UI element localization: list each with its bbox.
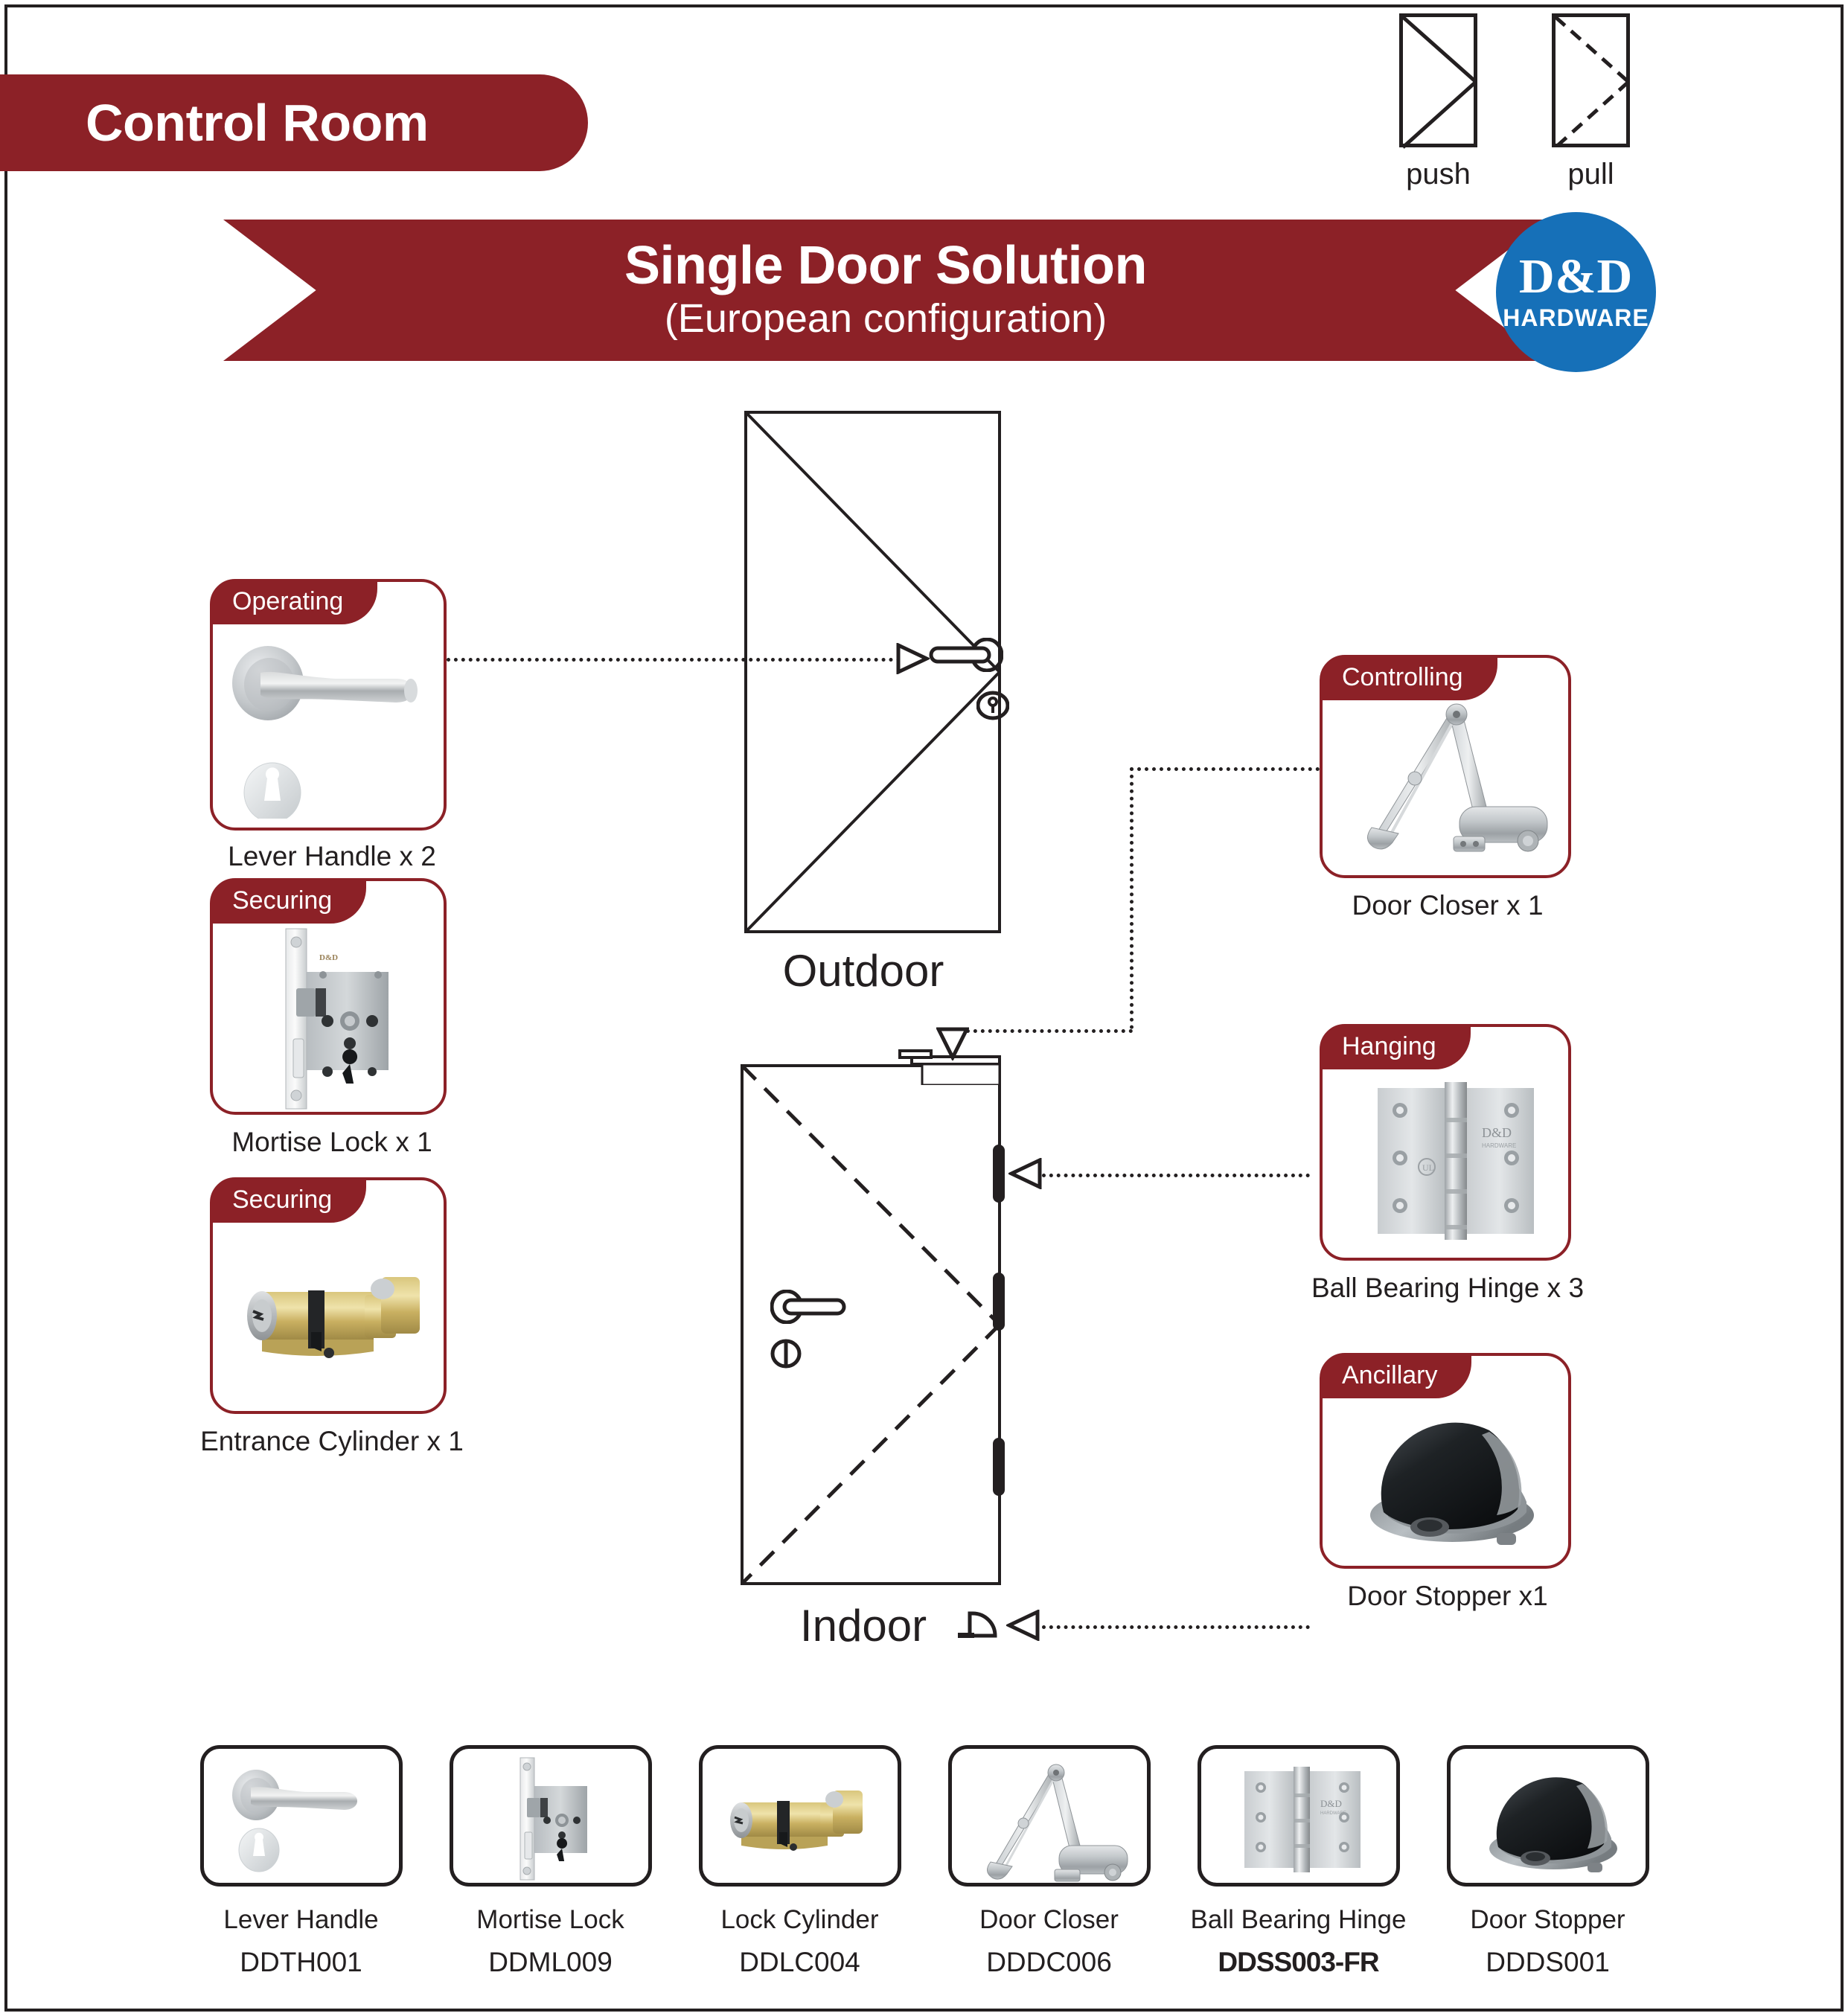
strip-thumb-door-closer — [948, 1745, 1151, 1887]
lever-handle-image — [226, 640, 442, 822]
ball-bearing-hinge-image: D&D HARDWARE UL — [1370, 1079, 1541, 1247]
pull-symbol-icon — [1552, 13, 1630, 147]
connector-lever-handle — [447, 658, 901, 662]
strip-name: Door Stopper — [1470, 1905, 1625, 1935]
arrowhead-left — [1008, 1158, 1043, 1193]
legend-label-push: push — [1406, 158, 1471, 191]
card-caption: Lever Handle x 2 — [176, 841, 488, 872]
hinge-mark — [993, 1145, 1005, 1203]
strip-name: Mortise Lock — [476, 1905, 624, 1935]
ribbon-title: Single Door Solution — [624, 239, 1147, 293]
indoor-thumbturn-symbol — [770, 1337, 805, 1372]
arrowhead-left — [1006, 1610, 1040, 1645]
strip-code: DDLC004 — [739, 1947, 860, 1978]
card-badge: Ancillary — [1321, 1354, 1471, 1398]
svg-text:HARDWARE: HARDWARE — [1482, 1142, 1516, 1149]
room-banner: Control Room — [0, 74, 588, 171]
connector-door-closer-bottom — [959, 1029, 1133, 1033]
legend-item-push: push — [1399, 13, 1477, 191]
strip-thumb-door-stopper — [1447, 1745, 1649, 1887]
connector-door-closer-top — [1130, 767, 1320, 771]
card-caption: Door Closer x 1 — [1291, 890, 1604, 921]
strip-item-door-closer[interactable]: Door Closer DDDC006 — [943, 1745, 1155, 1998]
callout-card-lever-handle[interactable]: Operating Lever H — [210, 579, 447, 831]
svg-text:D&D: D&D — [1320, 1798, 1342, 1809]
lock-cylinder-image — [234, 1261, 435, 1391]
arrowhead-down — [936, 1026, 969, 1064]
indoor-door-caption: Indoor — [677, 1600, 1049, 1651]
door-stopper-image — [1358, 1414, 1546, 1550]
dd-hardware-logo: D&D HARDWARE — [1496, 212, 1656, 372]
arrowhead-right — [895, 643, 930, 678]
mortise-lock-image: D&D — [278, 926, 405, 1116]
strip-thumb-lock-cylinder — [699, 1745, 901, 1887]
callout-card-door-stopper[interactable]: Ancillary Door Stopper x1 — [1320, 1353, 1571, 1569]
door-closer-image — [1355, 695, 1556, 870]
callout-card-lock-cylinder[interactable]: Securing En — [210, 1177, 447, 1414]
strip-item-mortise-lock[interactable]: Mortise Lock DDML009 — [444, 1745, 656, 1998]
strip-thumb-ball-bearing-hinge: D&D HARDWARE — [1198, 1745, 1400, 1887]
strip-item-door-stopper[interactable]: Door Stopper DDDS001 — [1442, 1745, 1654, 1998]
strip-code: DDDS001 — [1486, 1947, 1610, 1978]
swing-legend: push pull — [1399, 13, 1630, 191]
card-badge: Operating — [211, 580, 377, 624]
svg-text:UL: UL — [1422, 1162, 1434, 1173]
logo-wordmark: D&D — [1519, 252, 1633, 301]
svg-text:HARDWARE: HARDWARE — [1320, 1811, 1346, 1816]
indoor-lever-handle-symbol — [770, 1290, 882, 1327]
card-caption: Mortise Lock x 1 — [176, 1127, 488, 1158]
hinge-mark — [993, 1438, 1005, 1496]
strip-item-lock-cylinder[interactable]: Lock Cylinder DDLC004 — [694, 1745, 906, 1998]
connector-hinge — [1042, 1174, 1310, 1177]
strip-thumb-mortise-lock — [450, 1745, 652, 1887]
callout-card-ball-bearing-hinge[interactable]: Hanging — [1320, 1024, 1571, 1261]
title-ribbon: Single Door Solution (European configura… — [223, 220, 1548, 361]
strip-code: DDDC006 — [986, 1947, 1112, 1978]
card-caption: Entrance Cylinder x 1 — [176, 1426, 488, 1457]
legend-label-pull: pull — [1567, 158, 1614, 191]
ribbon-subtitle: (European configuration) — [665, 295, 1107, 342]
strip-item-lever-handle[interactable]: Lever Handle DDTH001 — [195, 1745, 407, 1998]
card-badge: Controlling — [1321, 656, 1497, 700]
card-badge: Securing — [211, 880, 366, 924]
card-caption: Ball Bearing Hinge x 3 — [1291, 1273, 1604, 1304]
product-strip: Lever Handle DDTH001 Mortise Lock DDML00… — [195, 1745, 1654, 1998]
strip-name: Lock Cylinder — [720, 1905, 878, 1935]
outdoor-keyhole-symbol — [976, 691, 1011, 725]
card-badge: Securing — [211, 1179, 366, 1223]
connector-door-closer-vert — [1130, 767, 1134, 1029]
svg-text:D&D: D&D — [1482, 1125, 1512, 1140]
strip-name: Lever Handle — [223, 1905, 378, 1935]
outdoor-door-caption: Outdoor — [677, 945, 1049, 996]
callout-card-door-closer[interactable]: Controlling — [1320, 655, 1571, 878]
strip-code: DDTH001 — [240, 1947, 362, 1978]
strip-name: Ball Bearing Hinge — [1191, 1905, 1407, 1935]
push-symbol-icon — [1399, 13, 1477, 147]
strip-name: Door Closer — [979, 1905, 1119, 1935]
logo-tagline: HARDWARE — [1503, 304, 1649, 332]
callout-card-mortise-lock[interactable]: Securing — [210, 878, 447, 1115]
card-caption: Door Stopper x1 — [1291, 1581, 1604, 1612]
strip-code: DDSS003-FR — [1218, 1947, 1378, 1978]
card-badge: Hanging — [1321, 1025, 1471, 1069]
strip-code: DDML009 — [488, 1947, 613, 1978]
connector-door-stopper — [1042, 1625, 1310, 1629]
room-banner-label: Control Room — [0, 93, 429, 153]
hinge-mark — [993, 1273, 1005, 1331]
strip-item-ball-bearing-hinge[interactable]: D&D HARDWARE Ball Bearing Hinge DDSS003-… — [1192, 1745, 1404, 1998]
outdoor-lever-handle-symbol — [921, 638, 1033, 675]
svg-text:D&D: D&D — [319, 953, 338, 962]
legend-item-pull: pull — [1552, 13, 1630, 191]
strip-thumb-lever-handle — [200, 1745, 403, 1887]
